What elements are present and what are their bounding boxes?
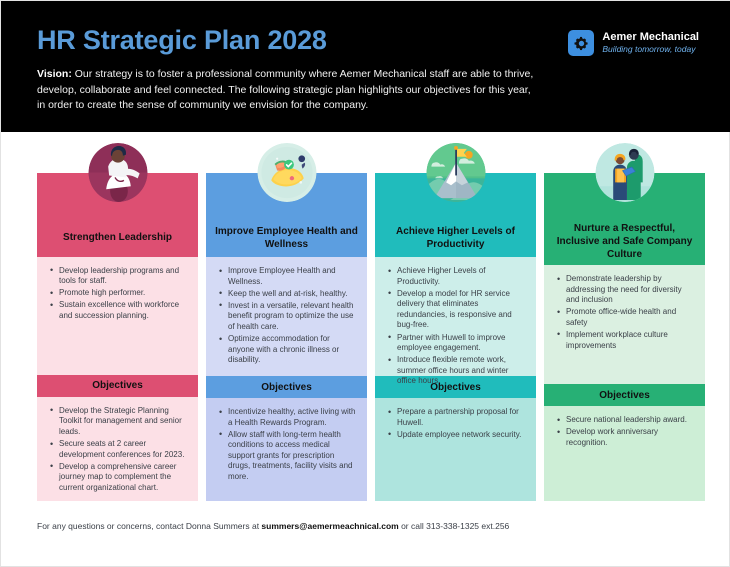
list-item: Achieve Higher Levels of Productivity. — [397, 266, 526, 287]
objectives-heading: Objectives — [37, 375, 198, 397]
list-item: Develop a model for HR service delivery … — [397, 289, 526, 331]
list-item: Promote office-wide health and safety — [566, 307, 695, 328]
list-item: Prepare a partnership proposal for Huwel… — [397, 407, 526, 428]
page-title: HR Strategic Plan 2028 — [37, 27, 327, 54]
list-item: Optimize accommodation for anyone with a… — [228, 334, 357, 366]
column-banner — [206, 173, 367, 218]
list-item: Secure seats at 2 career development con… — [59, 439, 188, 460]
footer-contact: For any questions or concerns, contact D… — [37, 520, 697, 532]
column-title: Improve Employee Health and Wellness — [206, 218, 367, 257]
column-banner — [544, 173, 705, 218]
brand-name: Aemer Mechanical — [602, 31, 699, 44]
list-item: Allow staff with long-term health condit… — [228, 430, 357, 483]
brand-logo: Aemer Mechanical Building tomorrow, toda… — [568, 30, 699, 56]
list-item: Introduce flexible remote work, summer o… — [397, 355, 526, 387]
objectives-heading: Objectives — [544, 384, 705, 406]
footer-email[interactable]: summers@aemermeachnical.com — [261, 521, 398, 531]
column-title: Nurture a Respectful, Inclusive and Safe… — [544, 218, 705, 265]
footer-prefix: For any questions or concerns, contact D… — [37, 521, 261, 531]
column-points: Improve Employee Health and Wellness.Kee… — [206, 257, 367, 376]
mountain-flag-icon — [426, 143, 485, 202]
list-item: Update employee network security. — [397, 430, 526, 441]
column-banner — [37, 173, 198, 218]
list-item: Partner with Huwell to improve employee … — [397, 333, 526, 354]
vision-text: Our strategy is to foster a professional… — [37, 68, 533, 111]
footer-suffix: or call 313-338-1325 ext.256 — [399, 521, 510, 531]
healthy-food-icon — [257, 143, 316, 202]
list-item: Sustain excellence with workforce and su… — [59, 300, 188, 321]
brand-text-block: Aemer Mechanical Building tomorrow, toda… — [602, 31, 699, 54]
list-item: Develop a comprehensive career journey m… — [59, 462, 188, 494]
list-item: Keep the well and at-risk, healthy. — [228, 289, 357, 300]
gear-icon — [568, 30, 594, 56]
strategy-column-improve-employee-health-and-wellness: Improve Employee Health and WellnessImpr… — [206, 173, 367, 501]
list-item: Improve Employee Health and Wellness. — [228, 266, 357, 287]
list-item: Develop leadership programs and tools fo… — [59, 266, 188, 287]
list-item: Develop the Strategic Planning Toolkit f… — [59, 406, 188, 438]
strategy-column-strengthen-leadership: Strengthen LeadershipDevelop leadership … — [37, 173, 198, 501]
column-points: Demonstrate leadership by addressing the… — [544, 265, 705, 384]
infographic-page: HR Strategic Plan 2028 Vision: Our strat… — [0, 0, 730, 567]
brand-tagline: Building tomorrow, today — [602, 45, 699, 55]
strategy-column-nurture-a-respectful-inclusive-and-safe-company-culture: Nurture a Respectful, Inclusive and Safe… — [544, 173, 705, 501]
vision-statement: Vision: Our strategy is to foster a prof… — [37, 67, 537, 114]
header-band: HR Strategic Plan 2028 Vision: Our strat… — [1, 1, 730, 132]
list-item: Demonstrate leadership by addressing the… — [566, 274, 695, 306]
objectives-list: Secure national leadership award.Develop… — [544, 406, 705, 501]
strategy-columns: Strengthen LeadershipDevelop leadership … — [37, 173, 695, 501]
column-title: Achieve Higher Levels of Productivity — [375, 218, 536, 257]
leadership-person-icon — [88, 143, 147, 202]
list-item: Incentivize healthy, active living with … — [228, 407, 357, 428]
strategy-column-achieve-higher-levels-of-productivity: Achieve Higher Levels of ProductivityAch… — [375, 173, 536, 501]
objectives-list: Develop the Strategic Planning Toolkit f… — [37, 397, 198, 501]
objectives-list: Incentivize healthy, active living with … — [206, 398, 367, 501]
objectives-list: Prepare a partnership proposal for Huwel… — [375, 398, 536, 501]
objectives-heading: Objectives — [206, 376, 367, 398]
list-item: Implement workplace culture improvements — [566, 330, 695, 351]
column-title: Strengthen Leadership — [37, 218, 198, 257]
list-item: Develop work anniversary recognition. — [566, 427, 695, 448]
column-points: Achieve Higher Levels of Productivity.De… — [375, 257, 536, 376]
vision-label: Vision: — [37, 68, 72, 80]
recycling-people-icon — [595, 143, 654, 202]
list-item: Invest in a versatile, relevant health b… — [228, 301, 357, 333]
column-points: Develop leadership programs and tools fo… — [37, 257, 198, 375]
list-item: Promote high performer. — [59, 288, 188, 299]
list-item: Secure national leadership award. — [566, 415, 695, 426]
column-banner — [375, 173, 536, 218]
